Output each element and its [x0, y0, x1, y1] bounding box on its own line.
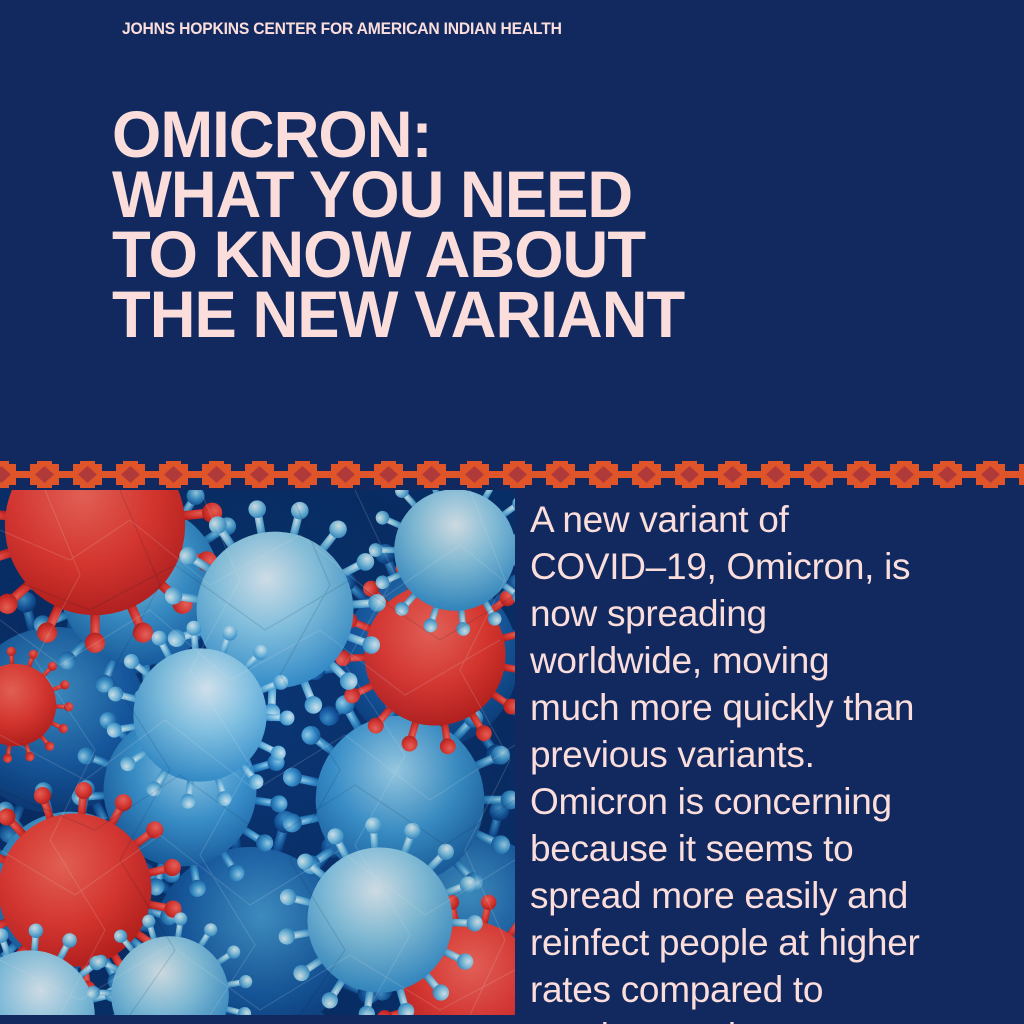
- body-line-8: because it seems to: [530, 825, 1018, 872]
- headline-line-3: TO KNOW ABOUT: [112, 224, 880, 284]
- body-line-3: now spreading: [530, 590, 1018, 637]
- body-line-4: worldwide, moving: [530, 637, 1018, 684]
- body-line-2: COVID–19, Omicron, is: [530, 543, 1018, 590]
- body-line-6: previous variants.: [530, 731, 1018, 778]
- body-line-12: previous variants.: [530, 1013, 1018, 1024]
- page-title: OMICRON: WHAT YOU NEED TO KNOW ABOUT THE…: [112, 104, 912, 344]
- body-line-11: rates compared to: [530, 966, 1018, 1013]
- body-line-7: Omicron is concerning: [530, 778, 1018, 825]
- body-line-5: much more quickly than: [530, 684, 1018, 731]
- headline-line-2: WHAT YOU NEED: [112, 164, 880, 224]
- body-line-9: spread more easily and: [530, 872, 1018, 919]
- body-line-10: reinfect people at higher: [530, 919, 1018, 966]
- organization-header: JOHNS HOPKINS CENTER FOR AMERICAN INDIAN…: [122, 19, 562, 39]
- headline-line-4: THE NEW VARIANT: [112, 284, 880, 344]
- body-line-1: A new variant of: [530, 496, 1018, 543]
- headline-line-1: OMICRON:: [112, 104, 880, 164]
- southwest-diamond-pattern-band: [0, 459, 1024, 490]
- omicron-info-poster: JOHNS HOPKINS CENTER FOR AMERICAN INDIAN…: [0, 0, 1024, 1024]
- coronavirus-particles-illustration: [0, 490, 515, 1015]
- body-text: A new variant of COVID–19, Omicron, is n…: [530, 496, 1018, 1024]
